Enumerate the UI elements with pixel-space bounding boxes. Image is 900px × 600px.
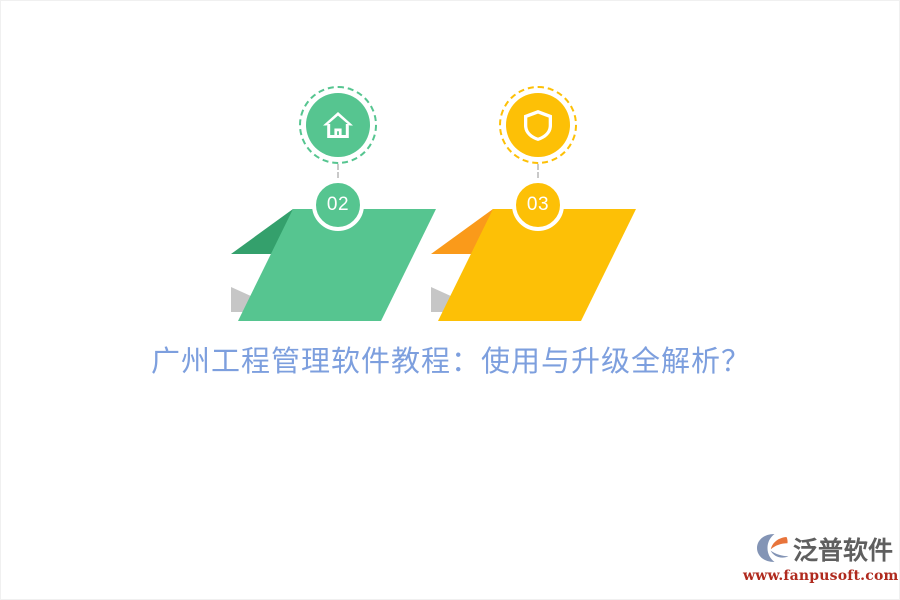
- home-icon[interactable]: [306, 93, 370, 157]
- fanpu-logo-icon: [756, 533, 790, 568]
- screenshot-canvas: 02 03 广州工程管理软件教程：使用与升级全解析？: [0, 0, 900, 600]
- step-number-badge: 03: [512, 179, 564, 231]
- step-card-03[interactable]: 03: [406, 1, 666, 331]
- shield-icon[interactable]: [506, 93, 570, 157]
- step-number-badge: 02: [312, 179, 364, 231]
- brand-watermark: 泛普软件 www.fanpusoft.com: [743, 533, 893, 591]
- brand-name: 泛普软件: [793, 538, 893, 563]
- page-title: 广州工程管理软件教程：使用与升级全解析？: [1, 338, 900, 380]
- brand-url: www.fanpusoft.com: [743, 568, 893, 584]
